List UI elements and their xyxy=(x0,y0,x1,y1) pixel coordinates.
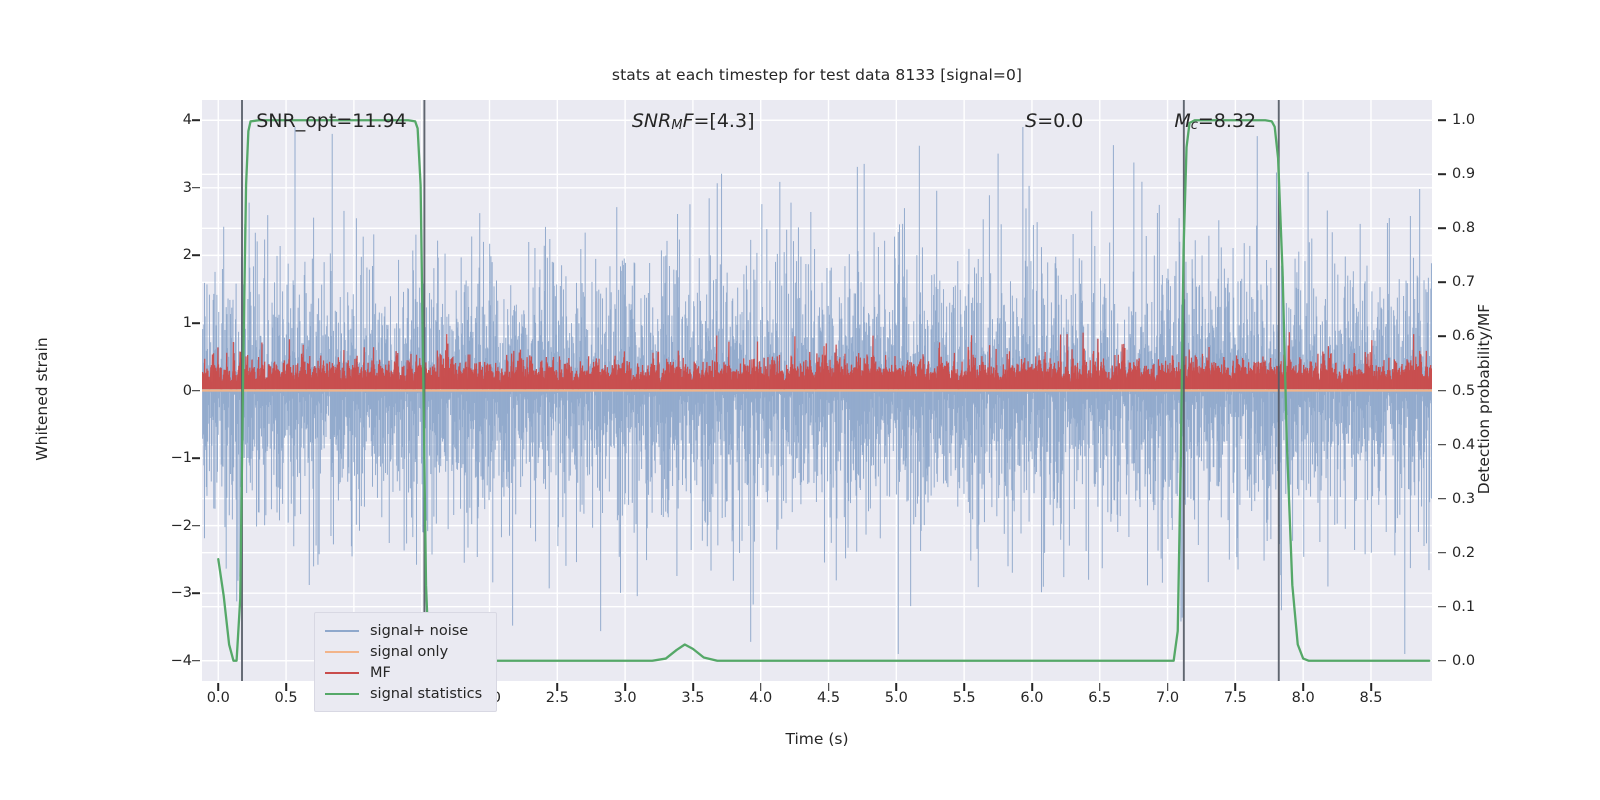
y2-tick-mark xyxy=(1438,444,1446,446)
x-tick-label: 7.0 xyxy=(1156,690,1179,706)
x-tick-mark xyxy=(1099,683,1101,691)
x-tick-label: 0.0 xyxy=(207,690,230,706)
y-tick-mark xyxy=(192,592,200,594)
y2-tick-mark xyxy=(1438,660,1446,662)
legend-label: signal statistics xyxy=(370,686,482,702)
y2-tick-label: 0.5 xyxy=(1452,383,1475,399)
y2-tick-mark xyxy=(1438,282,1446,284)
y2-tick-label: 0.9 xyxy=(1452,166,1475,182)
legend-item[interactable]: MF xyxy=(325,662,482,683)
annotation-snr-mf: SNRMF=[4.3] xyxy=(632,110,755,133)
y2-tick-label: 0.2 xyxy=(1452,545,1475,561)
y-tick-mark xyxy=(192,119,200,121)
y2-tick-mark xyxy=(1438,390,1446,392)
y-axis-label: Whitened strain xyxy=(33,249,51,549)
annotation-s-stat: S=0.0 xyxy=(1025,110,1083,132)
y2-tick-label: 1.0 xyxy=(1452,112,1475,128)
y2-tick-label: 0.0 xyxy=(1452,653,1475,669)
x-tick-label: 4.5 xyxy=(817,690,840,706)
y-tick-mark xyxy=(192,660,200,662)
legend-label: signal+ noise xyxy=(370,623,468,639)
plot-axes xyxy=(202,100,1432,681)
annotation-snr-opt: SNR_opt=11.94 xyxy=(256,110,406,132)
y-tick-mark xyxy=(192,322,200,324)
y2-tick-label: 0.8 xyxy=(1452,220,1475,236)
y-tick-label: 3 xyxy=(183,180,192,196)
x-tick-label: 6.0 xyxy=(1020,690,1043,706)
x-tick-mark xyxy=(557,683,559,691)
legend-item[interactable]: signal only xyxy=(325,641,482,662)
x-tick-label: 7.5 xyxy=(1224,690,1247,706)
x-tick-mark xyxy=(692,683,694,691)
y2-tick-label: 0.1 xyxy=(1452,599,1475,615)
y2-tick-mark xyxy=(1438,552,1446,554)
y2-tick-label: 0.7 xyxy=(1452,274,1475,290)
y-tick-label: 4 xyxy=(183,112,192,128)
y-tick-mark xyxy=(192,187,200,189)
x-tick-label: 4.0 xyxy=(749,690,772,706)
x-tick-mark xyxy=(963,683,965,691)
chart-title: stats at each timestep for test data 813… xyxy=(202,66,1432,84)
legend-swatch-icon xyxy=(325,672,359,674)
x-tick-mark xyxy=(285,683,287,691)
x-tick-label: 0.5 xyxy=(275,690,298,706)
y-tick-mark xyxy=(192,255,200,257)
legend-swatch-icon xyxy=(325,630,359,632)
legend-label: signal only xyxy=(370,644,448,660)
x-tick-mark xyxy=(217,683,219,691)
y2-tick-label: 0.3 xyxy=(1452,491,1475,507)
x-axis-label: Time (s) xyxy=(202,730,1432,748)
figure: stats at each timestep for test data 813… xyxy=(0,0,1600,800)
y2-axis-label: Detection probability/MF xyxy=(1475,249,1493,549)
y-tick-label: −1 xyxy=(171,450,192,466)
x-tick-mark xyxy=(1302,683,1304,691)
x-tick-mark xyxy=(760,683,762,691)
y2-tick-label: 0.6 xyxy=(1452,328,1475,344)
x-tick-mark xyxy=(896,683,898,691)
x-tick-label: 5.0 xyxy=(885,690,908,706)
x-tick-label: 8.5 xyxy=(1359,690,1382,706)
x-tick-label: 3.5 xyxy=(681,690,704,706)
y2-tick-mark xyxy=(1438,336,1446,338)
x-tick-label: 3.0 xyxy=(614,690,637,706)
legend-swatch-icon xyxy=(325,651,359,653)
chart-legend[interactable]: signal+ noisesignal onlyMFsignal statist… xyxy=(314,612,497,712)
x-tick-label: 5.5 xyxy=(953,690,976,706)
y2-tick-mark xyxy=(1438,228,1446,230)
legend-item[interactable]: signal+ noise xyxy=(325,620,482,641)
plot-canvas xyxy=(202,100,1432,681)
y-tick-mark xyxy=(192,390,200,392)
legend-label: MF xyxy=(370,665,391,681)
y2-tick-mark xyxy=(1438,606,1446,608)
x-tick-mark xyxy=(624,683,626,691)
y2-tick-label: 0.4 xyxy=(1452,437,1475,453)
y-tick-label: 2 xyxy=(183,247,192,263)
y-tick-mark xyxy=(192,525,200,527)
x-tick-mark xyxy=(1370,683,1372,691)
x-tick-mark xyxy=(1167,683,1169,691)
x-tick-label: 6.5 xyxy=(1088,690,1111,706)
y-tick-label: −3 xyxy=(171,585,192,601)
x-tick-mark xyxy=(1235,683,1237,691)
x-tick-mark xyxy=(1031,683,1033,691)
y-tick-mark xyxy=(192,457,200,459)
y-tick-label: 1 xyxy=(183,315,192,331)
annotation-mc-stat: Mc=8.32 xyxy=(1174,110,1256,133)
x-tick-label: 2.5 xyxy=(546,690,569,706)
y-tick-label: 0 xyxy=(183,383,192,399)
y-tick-label: −2 xyxy=(171,518,192,534)
legend-item[interactable]: signal statistics xyxy=(325,683,482,704)
legend-swatch-icon xyxy=(325,693,359,695)
y2-tick-mark xyxy=(1438,119,1446,121)
y2-tick-mark xyxy=(1438,498,1446,500)
x-tick-label: 8.0 xyxy=(1292,690,1315,706)
x-tick-mark xyxy=(828,683,830,691)
y-tick-label: −4 xyxy=(171,653,192,669)
y2-tick-mark xyxy=(1438,174,1446,176)
